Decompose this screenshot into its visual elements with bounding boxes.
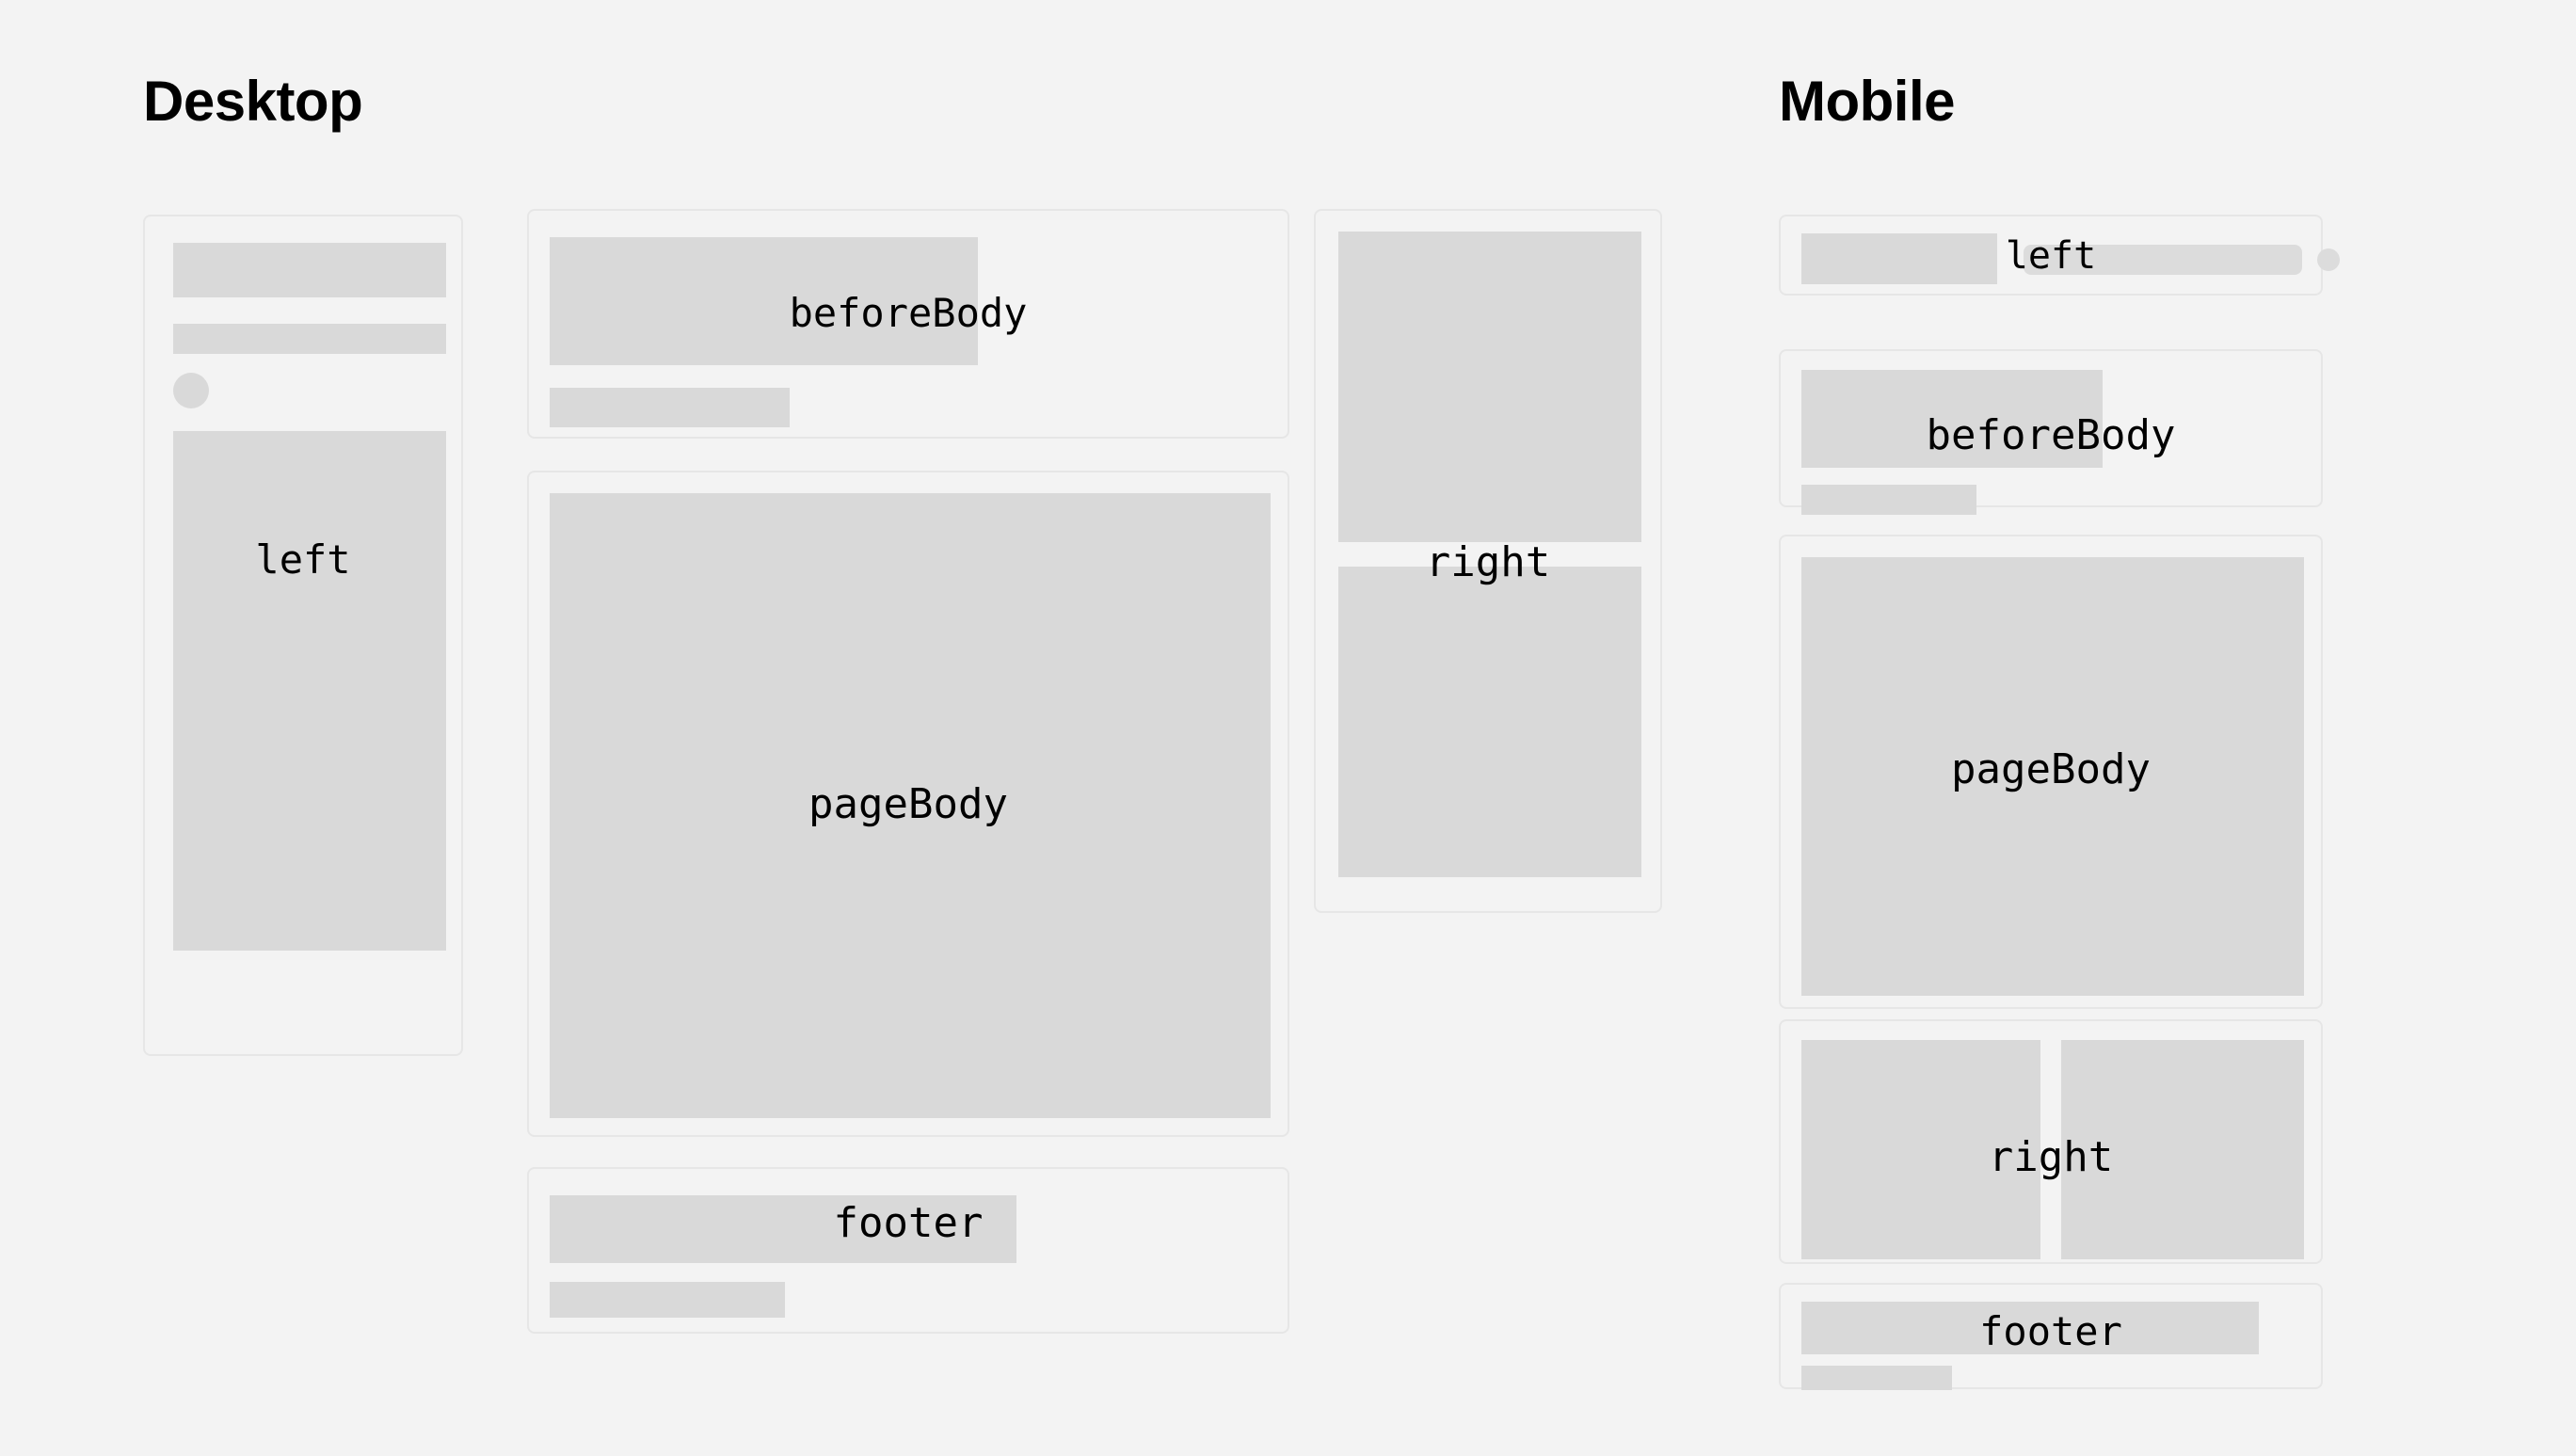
- mobile-section-title: Mobile: [1779, 73, 1955, 130]
- skeleton-block: [1801, 557, 2304, 996]
- skeleton-block: [550, 237, 978, 365]
- skeleton-block: [1801, 1040, 2040, 1259]
- skeleton-block: [1801, 370, 2103, 468]
- mobile-footer-panel[interactable]: [1779, 1283, 2323, 1389]
- mobile-left-panel[interactable]: [1779, 215, 2323, 296]
- skeleton-block: [550, 388, 790, 427]
- skeleton-block: [1338, 232, 1641, 542]
- skeleton-block: [1801, 233, 1997, 284]
- skeleton-block: [1338, 567, 1641, 877]
- skeleton-block: [1801, 485, 1976, 515]
- skeleton-block: [550, 1195, 1016, 1263]
- desktop-footer-panel[interactable]: [527, 1167, 1289, 1334]
- skeleton-block: [2061, 1040, 2304, 1259]
- desktop-beforebody-panel[interactable]: [527, 209, 1289, 439]
- skeleton-block: [173, 324, 446, 354]
- desktop-pagebody-panel[interactable]: [527, 471, 1289, 1137]
- skeleton-block: [173, 431, 446, 951]
- mobile-pagebody-panel[interactable]: [1779, 535, 2323, 1009]
- desktop-left-panel[interactable]: [143, 215, 463, 1056]
- skeleton-block: [550, 1282, 785, 1318]
- skeleton-block: [1801, 1302, 2259, 1354]
- mobile-right-panel[interactable]: [1779, 1019, 2323, 1264]
- skeleton-block: [1801, 1366, 1952, 1390]
- skeleton-bar: [2024, 245, 2302, 275]
- skeleton-block: [550, 493, 1271, 1118]
- skeleton-block: [173, 243, 446, 297]
- wireframe-canvas: Desktop left beforeBody pageBody footer …: [0, 0, 2576, 1456]
- skeleton-avatar-circle: [173, 373, 209, 408]
- mobile-beforebody-panel[interactable]: [1779, 349, 2323, 507]
- desktop-section-title: Desktop: [143, 73, 362, 130]
- desktop-right-panel[interactable]: [1314, 209, 1662, 913]
- skeleton-avatar-circle: [2317, 248, 2340, 271]
